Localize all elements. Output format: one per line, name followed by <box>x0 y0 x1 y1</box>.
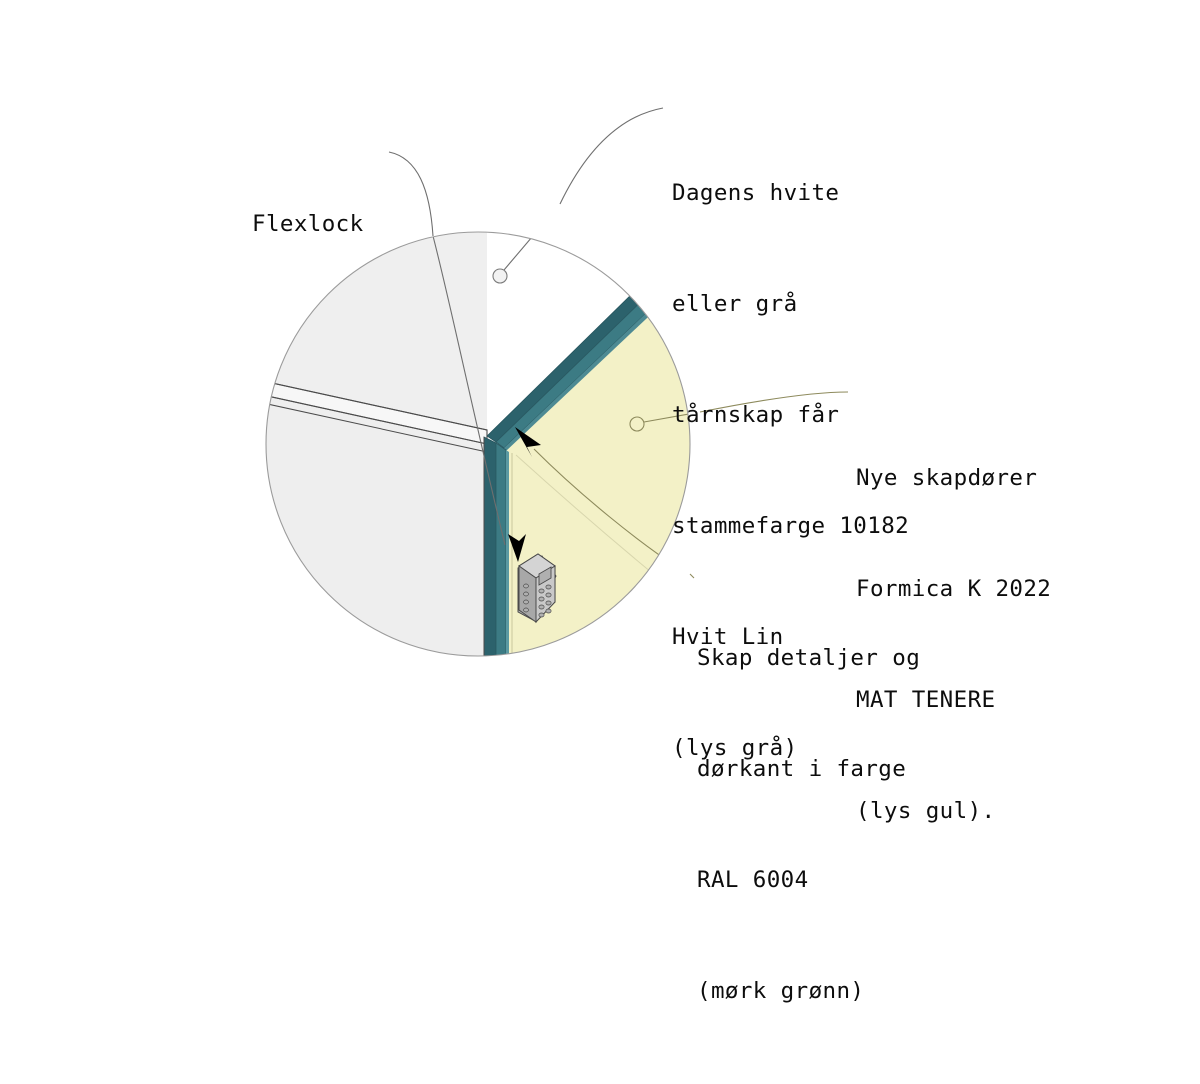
key-6 <box>546 601 551 605</box>
key-7 <box>539 613 544 617</box>
key-9 <box>524 584 529 588</box>
door-edge-vertical-highlight <box>506 450 509 700</box>
key-10 <box>524 592 529 596</box>
detaljer-line-3: RAL 6004 <box>697 862 920 899</box>
key-5 <box>539 605 544 609</box>
flexlock-keypad <box>518 554 556 622</box>
key-8 <box>546 609 551 613</box>
key-2 <box>546 585 551 589</box>
callout-dot-left-panel <box>493 269 507 283</box>
diagram-canvas: Flexlock Dagens hvite eller grå tårnskap… <box>0 0 1200 819</box>
key-4 <box>546 593 551 597</box>
key-12 <box>524 608 529 612</box>
door-edge-vertical-inner <box>496 443 506 700</box>
key-11 <box>524 600 529 604</box>
callout-dot-door <box>630 417 644 431</box>
flexlock-label-line-1: Flexlock <box>252 207 364 241</box>
leader-stammefarge <box>560 108 663 204</box>
skapdorer-line-1: Nye skapdører <box>856 460 1051 497</box>
detaljer-label: Skap detaljer og dørkant i farge RAL 600… <box>697 566 920 1084</box>
key-3 <box>539 597 544 601</box>
key-1 <box>539 589 544 593</box>
leader-flexlock <box>389 152 433 236</box>
stammefarge-line-2: eller grå <box>672 286 909 323</box>
door-edge-vertical-outer <box>484 437 496 700</box>
detaljer-line-4: (mørk grønn) <box>697 973 920 1010</box>
stammefarge-line-1: Dagens hvite <box>672 175 909 212</box>
flexlock-label: Flexlock <box>252 139 364 309</box>
detaljer-line-2: dørkant i farge <box>697 751 920 788</box>
detaljer-line-1: Skap detaljer og <box>697 640 920 677</box>
leader-panel-dot-inner <box>504 204 560 270</box>
